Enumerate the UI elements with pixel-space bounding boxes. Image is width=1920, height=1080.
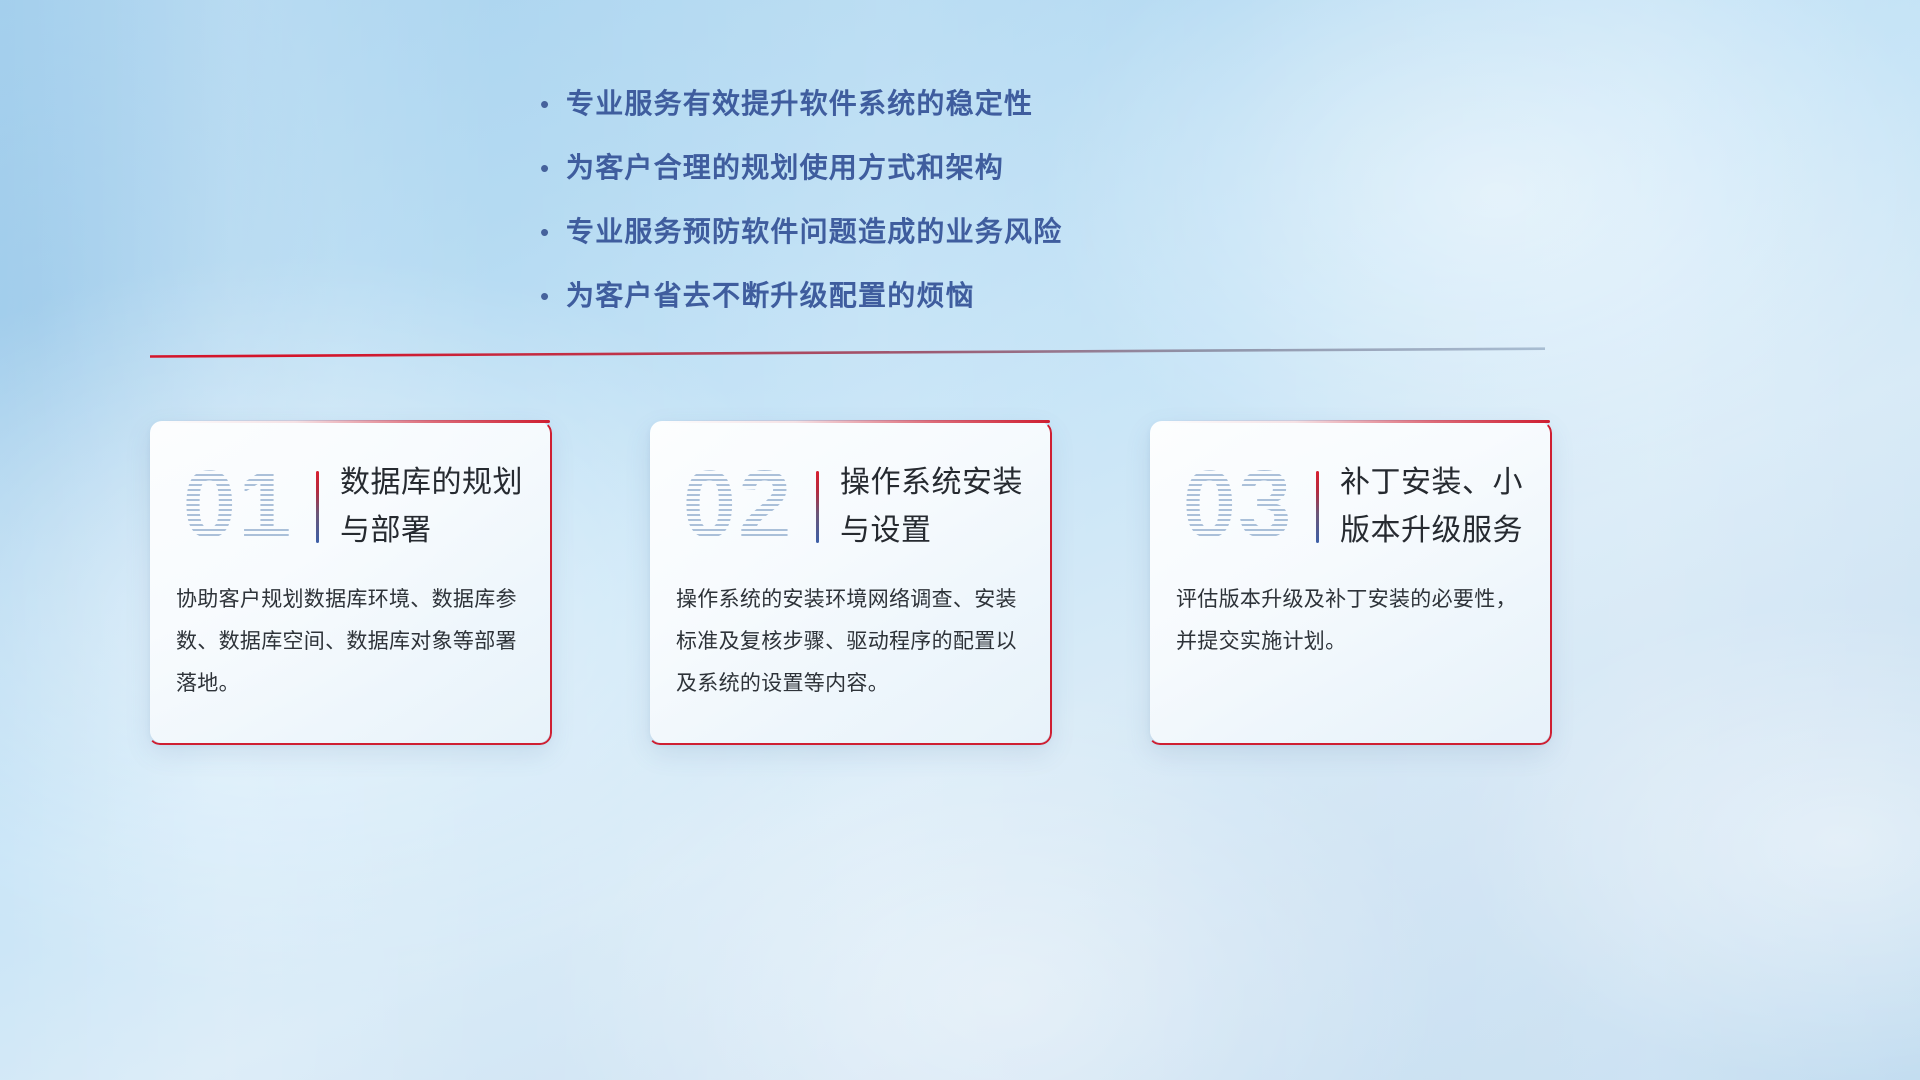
feature-card-row: 01 数据库的规划与部署 协助客户规划数据库环境、数据库参数、数据库空间、数据库…: [150, 421, 1550, 746]
card-description: 协助客户规划数据库环境、数据库参数、数据库空间、数据库对象等部署落地。: [176, 579, 528, 705]
card-title: 操作系统安装与设置: [840, 459, 1036, 555]
card-title: 数据库的规划与部署: [340, 459, 536, 555]
card-header: 03 补丁安装、小版本升级服务: [1150, 441, 1550, 561]
card-divider-bar-icon: [816, 471, 819, 543]
card-top-accent-line: [158, 420, 550, 423]
bullet-marker-icon: •: [540, 210, 566, 254]
card-description: 操作系统的安装环境网络调查、安装标准及复核步骤、驱动程序的配置以及系统的设置等内…: [676, 579, 1028, 705]
bullet-item: • 为客户省去不断升级配置的烦恼: [540, 274, 1360, 318]
divider-shape-icon: [150, 347, 1545, 358]
card-divider-bar-icon: [316, 471, 319, 543]
card-number-watermark: 01: [168, 449, 308, 561]
bullet-marker-icon: •: [540, 146, 566, 190]
card-title: 补丁安装、小版本升级服务: [1340, 459, 1536, 555]
card-top-accent-line: [658, 420, 1050, 423]
card-divider-bar-icon: [1316, 471, 1319, 543]
feature-card[interactable]: 01 数据库的规划与部署 协助客户规划数据库环境、数据库参数、数据库空间、数据库…: [150, 421, 550, 743]
bullet-item: • 专业服务预防软件问题造成的业务风险: [540, 210, 1360, 254]
bullet-item-label: 专业服务有效提升软件系统的稳定性: [566, 82, 1033, 126]
bullet-item-label: 为客户合理的规划使用方式和架构: [566, 146, 1004, 190]
card-header: 02 操作系统安装与设置: [650, 441, 1050, 561]
slide-canvas: • 专业服务有效提升软件系统的稳定性 • 为客户合理的规划使用方式和架构 • 专…: [0, 0, 1920, 1080]
benefits-bullet-list: • 专业服务有效提升软件系统的稳定性 • 为客户合理的规划使用方式和架构 • 专…: [540, 82, 1360, 338]
card-header: 01 数据库的规划与部署: [150, 441, 550, 561]
section-divider: [150, 344, 1545, 364]
card-number-watermark: 02: [668, 449, 808, 561]
card-top-accent-line: [1158, 420, 1550, 423]
bullet-item-label: 专业服务预防软件问题造成的业务风险: [566, 210, 1062, 254]
card-number-watermark: 03: [1168, 449, 1308, 561]
bullet-item-label: 为客户省去不断升级配置的烦恼: [566, 274, 975, 318]
card-description: 评估版本升级及补丁安装的必要性，并提交实施计划。: [1176, 579, 1528, 663]
bullet-item: • 为客户合理的规划使用方式和架构: [540, 146, 1360, 190]
feature-card[interactable]: 02 操作系统安装与设置 操作系统的安装环境网络调查、安装标准及复核步骤、驱动程…: [650, 421, 1050, 743]
bullet-marker-icon: •: [540, 82, 566, 126]
bullet-item: • 专业服务有效提升软件系统的稳定性: [540, 82, 1360, 126]
feature-card[interactable]: 03 补丁安装、小版本升级服务 评估版本升级及补丁安装的必要性，并提交实施计划。: [1150, 421, 1550, 743]
bullet-marker-icon: •: [540, 274, 566, 318]
